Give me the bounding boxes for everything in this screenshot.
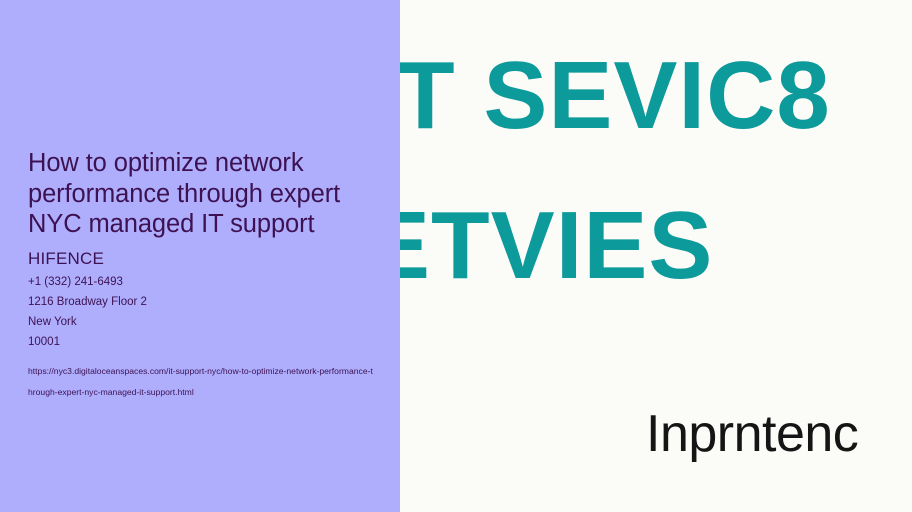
article-info-panel: How to optimize network performance thro… [0, 0, 400, 512]
poster-headline-line-1: T SEVIC8 [400, 48, 831, 144]
poster-headline-line-2: ETVIES [400, 198, 713, 294]
article-info-content: How to optimize network performance thro… [28, 148, 386, 403]
brand-name: HIFENCE [28, 248, 386, 269]
contact-address-street: 1216 Broadway Floor 2 [28, 292, 386, 312]
article-preview-card: How to optimize network performance thro… [0, 0, 912, 512]
contact-address-city: New York [28, 312, 386, 332]
contact-phone: +1 (332) 241-6493 [28, 272, 386, 292]
contact-address-zip: 10001 [28, 332, 386, 352]
poster-graphic-panel: T SEVIC8 ETVIES Inprntenc [400, 0, 912, 512]
source-url-link[interactable]: https://nyc3.digitaloceanspaces.com/it-s… [28, 361, 373, 403]
poster-subline: Inprntenc [646, 405, 858, 463]
page-title: How to optimize network performance thro… [28, 148, 386, 240]
